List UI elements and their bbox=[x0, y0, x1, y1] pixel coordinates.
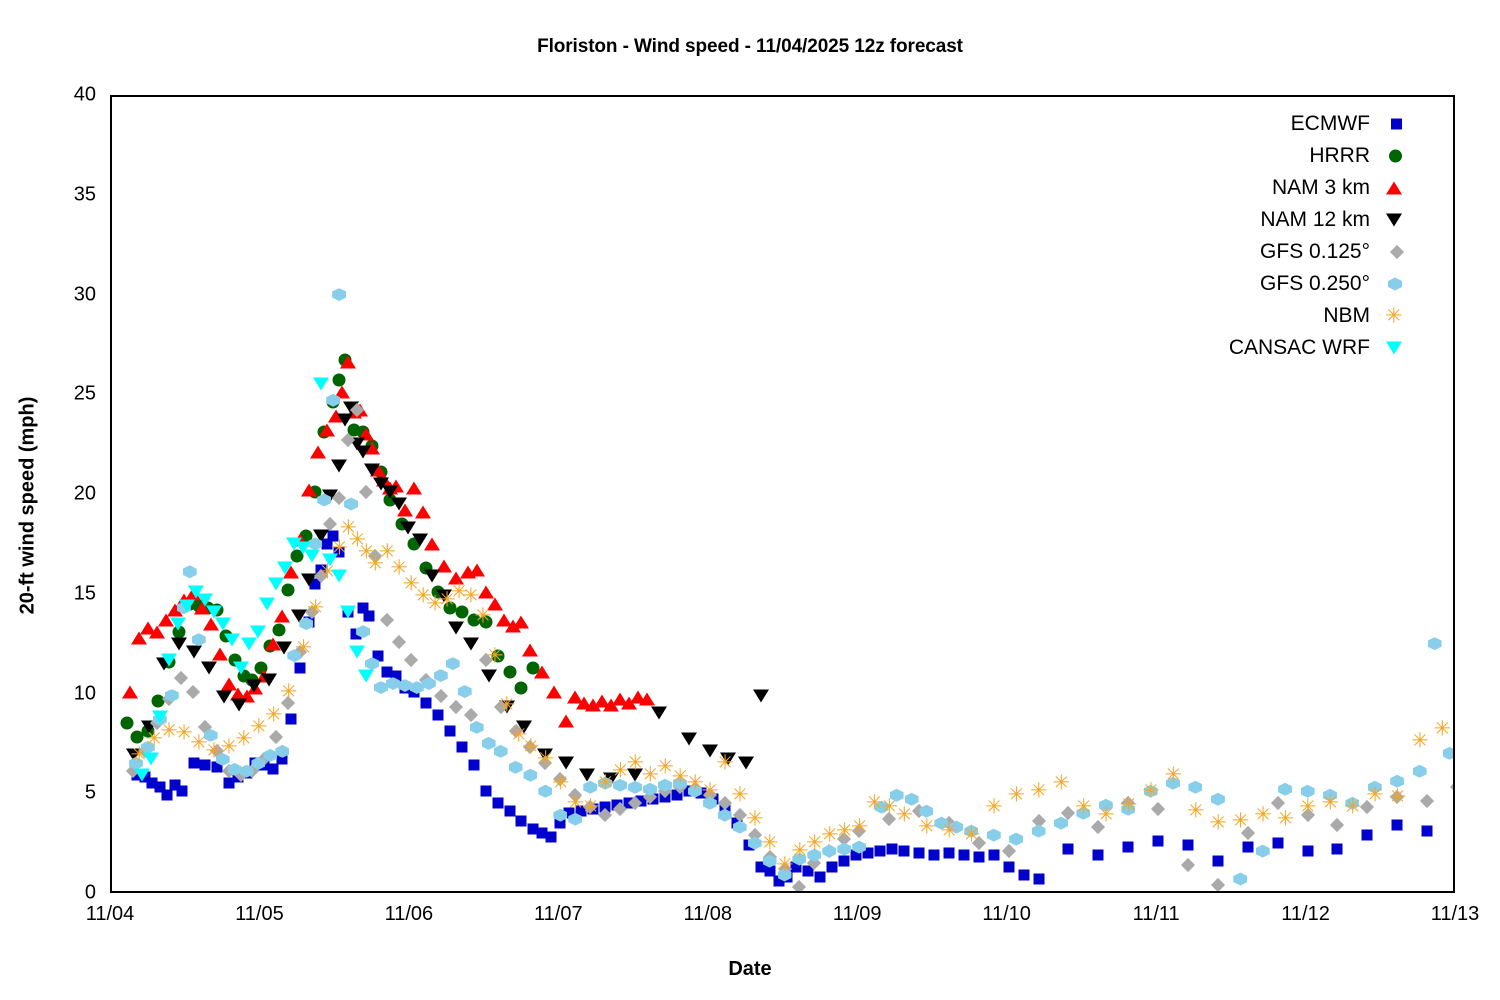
data-point bbox=[346, 406, 362, 419]
data-point: ✳ bbox=[866, 795, 883, 812]
data-point bbox=[612, 693, 628, 706]
data-point bbox=[492, 798, 503, 809]
legend-item-nam-12-km[interactable]: NAM 12 km bbox=[1175, 204, 1410, 236]
data-point bbox=[391, 497, 407, 510]
data-point bbox=[412, 533, 428, 546]
data-point bbox=[851, 850, 862, 861]
data-point bbox=[350, 403, 364, 417]
data-point bbox=[392, 635, 406, 649]
data-point bbox=[277, 561, 293, 574]
data-point: ✳ bbox=[522, 739, 539, 756]
data-point bbox=[496, 613, 512, 626]
data-point bbox=[1271, 796, 1285, 810]
data-point bbox=[553, 809, 567, 822]
data-point: ✳ bbox=[716, 755, 733, 772]
data-point bbox=[149, 625, 165, 638]
data-point: ✳ bbox=[462, 587, 479, 604]
data-point bbox=[516, 721, 532, 734]
data-point: ✳ bbox=[438, 591, 455, 608]
data-point bbox=[949, 821, 963, 834]
data-point bbox=[310, 446, 326, 459]
data-point: ✳ bbox=[331, 539, 348, 556]
data-point bbox=[1390, 775, 1404, 788]
data-point: ✳ bbox=[597, 775, 614, 792]
wind-speed-forecast-chart: Floriston - Wind speed - 11/04/2025 12z … bbox=[0, 0, 1500, 1000]
data-point bbox=[301, 573, 317, 586]
x-axis-label: Date bbox=[0, 958, 1500, 981]
data-point bbox=[598, 808, 612, 822]
data-point bbox=[499, 701, 515, 714]
data-point bbox=[579, 769, 595, 782]
data-point: ✳ bbox=[205, 743, 222, 760]
data-point bbox=[334, 546, 345, 557]
data-point bbox=[309, 486, 322, 499]
data-point bbox=[719, 802, 730, 813]
data-point bbox=[598, 777, 612, 790]
data-point bbox=[167, 603, 183, 616]
data-point bbox=[807, 849, 821, 862]
data-point bbox=[228, 653, 241, 666]
data-point bbox=[419, 561, 432, 574]
data-point bbox=[1002, 844, 1016, 858]
data-point bbox=[357, 426, 370, 439]
data-point: ✳ bbox=[821, 827, 838, 844]
data-point bbox=[257, 752, 271, 766]
data-point bbox=[305, 605, 319, 619]
data-point bbox=[837, 832, 851, 846]
data-point: ✳ bbox=[358, 543, 375, 560]
data-point bbox=[702, 745, 718, 758]
data-point bbox=[424, 537, 440, 550]
data-point bbox=[1003, 862, 1014, 873]
data-point bbox=[161, 653, 177, 666]
data-point bbox=[122, 685, 138, 698]
data-point bbox=[576, 697, 592, 710]
data-point bbox=[350, 628, 361, 639]
data-point bbox=[755, 862, 766, 873]
data-point bbox=[216, 691, 232, 704]
data-point bbox=[332, 288, 346, 301]
data-point: ✳ bbox=[340, 519, 357, 536]
data-point bbox=[399, 682, 410, 693]
data-point: ✳ bbox=[836, 823, 853, 840]
data-point bbox=[132, 770, 143, 781]
data-point: ✳ bbox=[1165, 767, 1182, 784]
data-point: ✳ bbox=[1434, 721, 1451, 738]
data-point: ✳ bbox=[1075, 799, 1092, 816]
data-point bbox=[308, 537, 322, 550]
data-point bbox=[460, 565, 476, 578]
legend-label: ECMWF bbox=[1291, 108, 1370, 140]
data-point bbox=[603, 773, 619, 786]
data-point bbox=[479, 615, 492, 628]
x-axis-tick-label: 11/13 bbox=[1431, 903, 1480, 926]
data-point bbox=[177, 601, 191, 614]
data-point bbox=[792, 880, 806, 891]
y-axis-tick-label: 30 bbox=[22, 283, 96, 306]
data-point bbox=[503, 665, 516, 678]
data-point bbox=[733, 808, 747, 822]
data-point bbox=[410, 681, 424, 694]
data-point bbox=[286, 537, 302, 550]
data-point bbox=[261, 673, 277, 686]
data-point bbox=[250, 625, 266, 638]
data-point bbox=[131, 631, 147, 644]
data-point bbox=[469, 563, 485, 576]
data-point: ✳ bbox=[1030, 783, 1047, 800]
data-point bbox=[504, 806, 515, 817]
data-point bbox=[129, 757, 143, 770]
x-axis-tick-label: 11/12 bbox=[1281, 903, 1330, 926]
x-axis-tick-label: 11/09 bbox=[833, 903, 882, 926]
data-point bbox=[1061, 806, 1075, 820]
data-point bbox=[424, 569, 440, 582]
data-point bbox=[300, 529, 313, 542]
data-point bbox=[165, 689, 179, 702]
data-point bbox=[176, 593, 192, 606]
data-point bbox=[398, 679, 412, 692]
legend-marker-triangle-down-icon bbox=[1386, 342, 1402, 355]
data-point bbox=[152, 711, 168, 724]
data-point bbox=[470, 721, 484, 734]
data-point bbox=[455, 605, 468, 618]
data-point bbox=[223, 778, 234, 789]
data-point bbox=[147, 778, 158, 789]
legend-marker-asterisk-icon: ✳ bbox=[1385, 308, 1402, 325]
data-point bbox=[942, 816, 956, 830]
data-point bbox=[204, 729, 218, 742]
data-point bbox=[1422, 826, 1433, 837]
legend-item-hrrr[interactable]: HRRR bbox=[1175, 140, 1410, 172]
data-point bbox=[141, 721, 157, 734]
data-point bbox=[352, 404, 368, 417]
data-point bbox=[373, 478, 389, 491]
data-point: ✳ bbox=[319, 563, 336, 580]
data-point bbox=[364, 464, 380, 477]
y-axis-tick-label: 25 bbox=[22, 383, 96, 406]
data-point bbox=[212, 647, 228, 660]
data-point bbox=[568, 788, 582, 802]
data-point bbox=[718, 809, 732, 822]
data-point bbox=[322, 538, 333, 549]
data-point bbox=[1256, 845, 1270, 858]
data-point bbox=[919, 805, 933, 818]
data-point bbox=[513, 615, 529, 628]
data-point bbox=[509, 761, 523, 774]
data-point bbox=[1166, 777, 1180, 790]
data-point: ✳ bbox=[1142, 783, 1159, 800]
legend-label: NAM 12 km bbox=[1260, 204, 1370, 236]
data-point bbox=[215, 617, 231, 630]
data-point bbox=[313, 378, 329, 391]
data-point bbox=[456, 742, 467, 753]
data-point bbox=[683, 786, 694, 797]
data-point: ✳ bbox=[552, 775, 569, 792]
data-point bbox=[286, 714, 297, 725]
data-point bbox=[516, 816, 527, 827]
data-point bbox=[748, 837, 762, 850]
data-point bbox=[388, 480, 404, 493]
data-point bbox=[404, 653, 418, 667]
data-point bbox=[1033, 874, 1044, 885]
data-point bbox=[707, 794, 718, 805]
data-point bbox=[658, 784, 672, 798]
data-point bbox=[316, 564, 327, 575]
data-point bbox=[464, 708, 478, 722]
data-point bbox=[322, 553, 338, 566]
data-point bbox=[515, 681, 528, 694]
data-point bbox=[333, 374, 346, 387]
data-point bbox=[358, 602, 369, 613]
data-point: ✳ bbox=[918, 819, 935, 836]
data-point bbox=[247, 681, 263, 694]
legend-marker-hexagon-icon bbox=[1388, 278, 1402, 291]
data-point bbox=[211, 762, 222, 773]
data-point bbox=[568, 813, 582, 826]
data-point bbox=[1362, 830, 1373, 841]
data-point bbox=[140, 621, 156, 634]
data-point bbox=[875, 846, 886, 857]
data-point bbox=[1300, 808, 1314, 822]
data-point bbox=[420, 698, 431, 709]
x-axis-tick-label: 11/07 bbox=[534, 903, 583, 926]
data-point bbox=[748, 828, 762, 842]
data-point bbox=[177, 786, 188, 797]
data-point bbox=[359, 485, 373, 499]
data-point bbox=[295, 662, 306, 673]
data-point: ✳ bbox=[686, 775, 703, 792]
data-point bbox=[259, 597, 275, 610]
data-point: ✳ bbox=[474, 607, 491, 624]
data-point: ✳ bbox=[1299, 799, 1316, 816]
data-point bbox=[1183, 840, 1194, 851]
data-point bbox=[600, 802, 611, 813]
data-point bbox=[1272, 838, 1283, 849]
data-point bbox=[555, 818, 566, 829]
data-point: ✳ bbox=[280, 683, 297, 700]
data-point bbox=[304, 549, 320, 562]
data-point bbox=[334, 386, 350, 399]
data-point bbox=[349, 645, 365, 658]
legend-label: NBM bbox=[1323, 300, 1370, 332]
data-point bbox=[310, 578, 321, 589]
data-point bbox=[753, 689, 769, 702]
data-point bbox=[263, 749, 277, 762]
data-point: ✳ bbox=[537, 751, 554, 768]
data-point: ✳ bbox=[1321, 795, 1338, 812]
data-point: ✳ bbox=[510, 727, 527, 744]
data-point bbox=[131, 731, 144, 744]
data-point bbox=[613, 802, 627, 816]
data-point: ✳ bbox=[426, 595, 443, 612]
data-point bbox=[232, 772, 243, 783]
data-point bbox=[162, 692, 176, 706]
legend-label: GFS 0.125° bbox=[1260, 236, 1370, 268]
data-point bbox=[1099, 799, 1113, 812]
legend-marker-triangle-up-icon bbox=[1386, 182, 1402, 195]
data-point bbox=[186, 645, 202, 658]
data-point: ✳ bbox=[130, 747, 147, 764]
data-point bbox=[264, 639, 277, 652]
data-point bbox=[199, 760, 210, 771]
data-point bbox=[295, 541, 311, 554]
data-point: ✳ bbox=[1052, 775, 1069, 792]
data-point bbox=[322, 490, 338, 503]
data-point bbox=[355, 446, 371, 459]
data-point: ✳ bbox=[1366, 787, 1383, 804]
data-point bbox=[237, 669, 250, 682]
data-point bbox=[381, 666, 392, 677]
data-point bbox=[173, 625, 186, 638]
data-point bbox=[203, 617, 219, 630]
data-point bbox=[703, 788, 717, 802]
data-point: ✳ bbox=[1232, 813, 1249, 830]
data-point bbox=[588, 804, 599, 815]
data-point: ✳ bbox=[582, 799, 599, 816]
data-point bbox=[621, 697, 637, 710]
data-point bbox=[791, 862, 802, 873]
data-point bbox=[139, 772, 150, 783]
data-point bbox=[276, 641, 292, 654]
data-point bbox=[738, 757, 754, 770]
data-point bbox=[331, 569, 347, 582]
data-point bbox=[340, 605, 356, 618]
data-point bbox=[1211, 878, 1225, 891]
data-point bbox=[763, 855, 777, 868]
data-point: ✳ bbox=[175, 725, 192, 742]
data-point bbox=[126, 764, 140, 778]
data-point bbox=[434, 688, 448, 702]
data-point bbox=[219, 629, 232, 642]
data-point bbox=[943, 848, 954, 859]
data-point: ✳ bbox=[1389, 789, 1406, 806]
x-axis-tick-label: 11/06 bbox=[385, 903, 434, 926]
data-point bbox=[1443, 747, 1453, 760]
data-point bbox=[189, 758, 200, 769]
data-point bbox=[807, 856, 821, 870]
chart-title: Floriston - Wind speed - 11/04/2025 12z … bbox=[0, 36, 1500, 58]
data-point bbox=[522, 643, 538, 656]
data-point bbox=[291, 549, 304, 562]
data-point bbox=[603, 699, 619, 712]
data-point bbox=[366, 440, 379, 453]
data-point bbox=[395, 517, 408, 530]
data-point bbox=[179, 599, 195, 612]
data-point bbox=[703, 797, 717, 810]
data-point bbox=[358, 428, 374, 441]
data-point bbox=[1330, 818, 1344, 832]
data-point bbox=[564, 808, 575, 819]
data-point bbox=[585, 699, 601, 712]
data-point bbox=[912, 804, 926, 818]
data-point: ✳ bbox=[896, 807, 913, 824]
data-point bbox=[1188, 781, 1202, 794]
data-point bbox=[282, 583, 295, 596]
legend-item-gfs-0-125[interactable]: GFS 0.125° bbox=[1175, 236, 1410, 268]
data-point bbox=[246, 679, 262, 692]
y-axis-tick-label: 35 bbox=[22, 183, 96, 206]
data-point bbox=[318, 426, 331, 439]
data-point bbox=[319, 424, 335, 437]
data-point bbox=[328, 410, 344, 423]
data-point bbox=[443, 601, 456, 614]
data-point bbox=[1392, 820, 1403, 831]
legend-item-gfs-0-250[interactable]: GFS 0.250° bbox=[1175, 268, 1410, 300]
data-point bbox=[141, 725, 154, 738]
data-point bbox=[304, 616, 315, 627]
data-point bbox=[141, 741, 155, 754]
data-point bbox=[268, 577, 284, 590]
data-point bbox=[508, 724, 522, 738]
data-point bbox=[537, 828, 548, 839]
data-point: ✳ bbox=[450, 583, 467, 600]
data-point: ✳ bbox=[1254, 807, 1271, 824]
data-point bbox=[987, 829, 1001, 842]
data-point bbox=[434, 669, 448, 682]
data-point: ✳ bbox=[220, 739, 237, 756]
data-point bbox=[138, 744, 152, 758]
data-point bbox=[1076, 807, 1090, 820]
data-point bbox=[1450, 780, 1453, 794]
data-point bbox=[803, 866, 814, 877]
data-point bbox=[246, 673, 259, 686]
data-point bbox=[1211, 793, 1225, 806]
data-point bbox=[201, 661, 217, 674]
data-point: ✳ bbox=[265, 707, 282, 724]
legend-label: CANSAC WRF bbox=[1229, 332, 1370, 364]
legend-item-nbm[interactable]: NBM✳ bbox=[1175, 300, 1410, 332]
data-point bbox=[1054, 817, 1068, 830]
data-point bbox=[863, 848, 874, 859]
legend-marker-circle-icon bbox=[1389, 150, 1402, 163]
data-point: ✳ bbox=[414, 587, 431, 604]
data-point bbox=[1278, 783, 1292, 796]
data-point bbox=[558, 757, 574, 770]
legend-item-ecmwf[interactable]: ECMWF bbox=[1175, 108, 1410, 140]
data-point bbox=[364, 442, 380, 455]
data-point bbox=[150, 716, 164, 730]
legend-item-cansac-wrf[interactable]: CANSAC WRF bbox=[1175, 332, 1410, 364]
data-point bbox=[762, 850, 776, 864]
data-point bbox=[216, 753, 230, 766]
data-point bbox=[1181, 858, 1195, 872]
data-point bbox=[233, 768, 247, 782]
data-point bbox=[255, 661, 268, 674]
data-point bbox=[185, 587, 201, 600]
data-point bbox=[239, 689, 255, 702]
data-point: ✳ bbox=[642, 767, 659, 784]
data-point bbox=[988, 850, 999, 861]
data-point: ✳ bbox=[701, 783, 718, 800]
data-point bbox=[292, 533, 308, 546]
data-point bbox=[291, 609, 307, 622]
data-point bbox=[228, 763, 242, 776]
y-axis-tick-label: 5 bbox=[22, 782, 96, 805]
data-point bbox=[326, 394, 340, 407]
data-point bbox=[491, 649, 504, 662]
data-point bbox=[364, 610, 375, 621]
data-point bbox=[639, 693, 655, 706]
data-point bbox=[171, 637, 187, 650]
data-point bbox=[174, 670, 188, 684]
data-point bbox=[331, 460, 347, 473]
data-point bbox=[269, 730, 283, 744]
data-point bbox=[186, 684, 200, 698]
data-point bbox=[183, 565, 197, 578]
data-point bbox=[671, 790, 682, 801]
legend-item-nam-3-km[interactable]: NAM 3 km bbox=[1175, 172, 1410, 204]
x-axis-tick-label: 11/04 bbox=[86, 903, 135, 926]
